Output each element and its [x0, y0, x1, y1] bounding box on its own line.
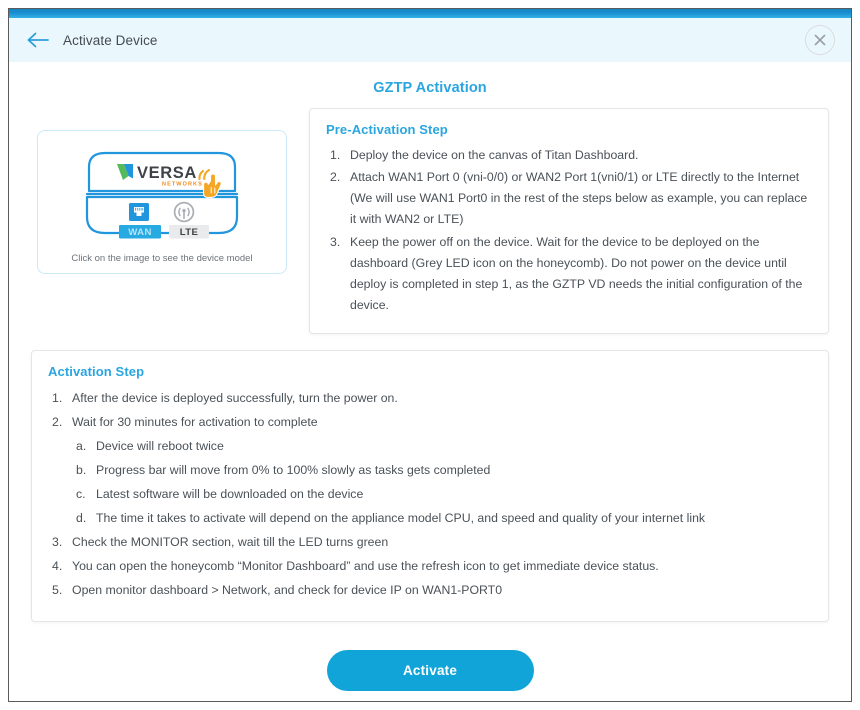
list-item: Keep the power off on the device. Wait f…: [326, 232, 810, 317]
lte-badge: LTE: [169, 225, 209, 239]
device-image-card[interactable]: VERSA NETWORKS: [37, 130, 287, 274]
list-item: Device will reboot twice: [72, 435, 810, 459]
list-item: Open monitor dashboard > Network, and ch…: [48, 579, 810, 603]
svg-text:LTE: LTE: [180, 227, 199, 238]
modal-body: GZTP Activation: [9, 62, 851, 701]
device-card-caption: Click on the image to see the device mod…: [71, 253, 252, 264]
pre-activation-step-list: Deploy the device on the canvas of Titan…: [326, 145, 810, 316]
top-row: VERSA NETWORKS: [31, 108, 829, 334]
list-item: Deploy the device on the canvas of Titan…: [326, 145, 810, 166]
modal-window: Activate Device GZTP Activation: [8, 8, 852, 702]
ethernet-port-icon: [129, 203, 149, 221]
list-item: Progress bar will move from 0% to 100% s…: [72, 459, 810, 483]
device-illustration: VERSA NETWORKS: [57, 145, 267, 251]
activation-heading: Activation Step: [48, 364, 810, 379]
footer-actions: Activate: [31, 650, 829, 691]
activation-substep-list: Device will reboot twice Progress bar wi…: [72, 435, 810, 531]
activation-panel: Activation Step After the device is depl…: [31, 350, 829, 622]
activation-step-list: After the device is deployed successfull…: [48, 387, 810, 603]
list-item: The time it takes to activate will depen…: [72, 507, 810, 531]
page-title: Activate Device: [63, 33, 158, 48]
activate-button[interactable]: Activate: [327, 650, 534, 691]
list-item: After the device is deployed successfull…: [48, 387, 810, 411]
close-icon[interactable]: [805, 25, 835, 55]
pre-activation-heading: Pre-Activation Step: [326, 122, 810, 137]
gztp-activation-title: GZTP Activation: [31, 62, 829, 108]
list-item: Check the MONITOR section, wait till the…: [48, 531, 810, 555]
svg-text:WAN: WAN: [128, 227, 152, 238]
modal-header: Activate Device: [9, 18, 851, 62]
list-item: Attach WAN1 Port 0 (vni-0/0) or WAN2 Por…: [326, 167, 810, 230]
list-item: Latest software will be downloaded on th…: [72, 483, 810, 507]
list-item: You can open the honeycomb “Monitor Dash…: [48, 555, 810, 579]
back-arrow-icon[interactable]: [25, 29, 51, 51]
svg-text:VERSA: VERSA: [137, 164, 197, 182]
list-item-label: Wait for 30 minutes for activation to co…: [72, 415, 318, 429]
svg-text:NETWORKS: NETWORKS: [162, 181, 203, 187]
list-item: Wait for 30 minutes for activation to co…: [48, 411, 810, 531]
pre-activation-panel: Pre-Activation Step Deploy the device on…: [309, 108, 829, 334]
window-accent-strip: [9, 9, 851, 18]
wan-badge: WAN: [119, 225, 161, 239]
activate-device-screen: Activate Device GZTP Activation: [0, 0, 860, 710]
